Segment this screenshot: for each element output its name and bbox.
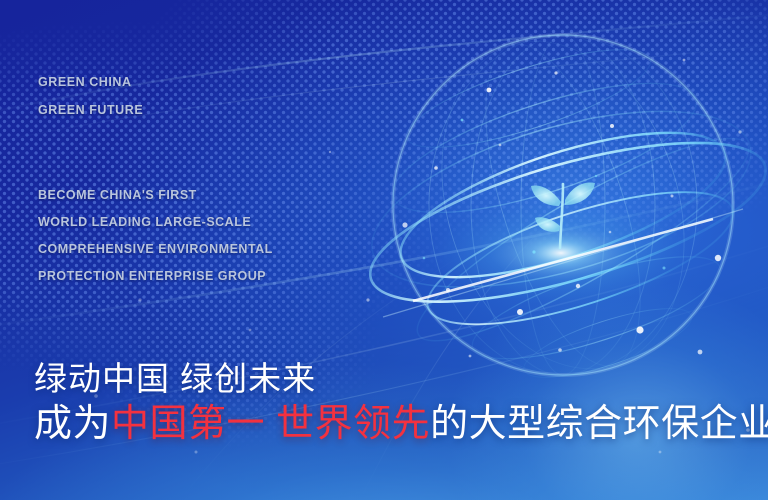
eyebrow-text-block: GREEN CHINA GREEN FUTURE: [38, 68, 143, 124]
headline-prefix: 成为: [34, 403, 111, 445]
headline-line-1: 绿动中国 绿创未来: [34, 358, 764, 400]
headline-suffix: 的大型综合环保企业集团: [430, 403, 768, 445]
tagline-line-2: WORLD LEADING LARGE-SCALE: [38, 209, 273, 236]
eyebrow-line-2: GREEN FUTURE: [38, 96, 143, 124]
tagline-line-1: BECOME CHINA'S FIRST: [38, 182, 273, 209]
headline-accent: 中国第一 世界领先: [111, 403, 430, 445]
headline-line-2: 成为中国第一 世界领先的大型综合环保企业集团: [34, 400, 764, 448]
eyebrow-line-1: GREEN CHINA: [38, 68, 143, 96]
headline-block: 绿动中国 绿创未来 成为中国第一 世界领先的大型综合环保企业集团: [34, 358, 764, 448]
hero-banner: GREEN CHINA GREEN FUTURE BECOME CHINA'S …: [0, 0, 768, 500]
tagline-line-3: COMPREHENSIVE ENVIRONMENTAL: [38, 236, 273, 263]
tagline-line-4: PROTECTION ENTERPRISE GROUP: [38, 263, 273, 290]
tagline-text-block: BECOME CHINA'S FIRST WORLD LEADING LARGE…: [38, 182, 273, 290]
